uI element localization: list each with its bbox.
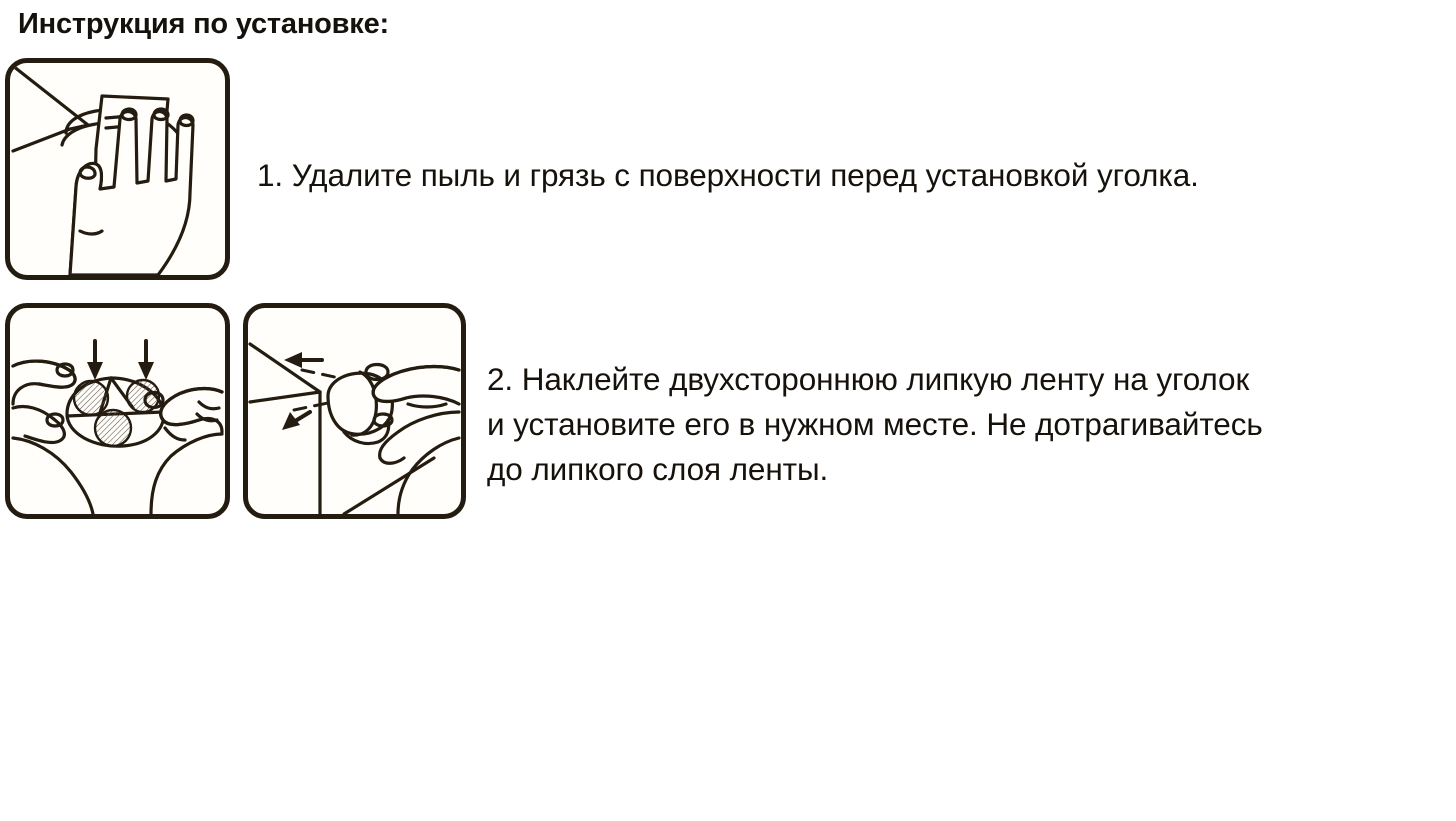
- instruction-step-2-line-2: и установите его в нужном месте. Не дотр…: [487, 402, 1452, 447]
- instruction-step-2: 2. Наклейте двухстороннюю липкую ленту н…: [487, 357, 1452, 492]
- apply-tape-panel: [5, 303, 230, 519]
- arrow-left-lower: [282, 412, 310, 430]
- adhesive-pad-1: [74, 381, 108, 415]
- adhesive-pad-3: [95, 410, 131, 446]
- clean-surface-illustration: [10, 63, 225, 275]
- instruction-step-2-line-3: до липкого слоя ленты.: [487, 447, 1452, 492]
- attach-corner-illustration: [248, 308, 461, 514]
- instruction-step-1: 1. Удалите пыль и грязь с поверхности пе…: [257, 153, 1447, 198]
- instruction-step-2-line-1: 2. Наклейте двухстороннюю липкую ленту н…: [487, 357, 1452, 402]
- arrow-down-right: [138, 341, 154, 380]
- arrow-down-left: [87, 341, 103, 380]
- attach-corner-panel: [243, 303, 466, 519]
- arrow-left-upper: [284, 352, 322, 368]
- instruction-step-1-line-1: 1. Удалите пыль и грязь с поверхности пе…: [257, 153, 1447, 198]
- clean-surface-panel: [5, 58, 230, 280]
- page-title: Инструкция по установке:: [18, 8, 389, 41]
- apply-tape-illustration: [10, 308, 225, 514]
